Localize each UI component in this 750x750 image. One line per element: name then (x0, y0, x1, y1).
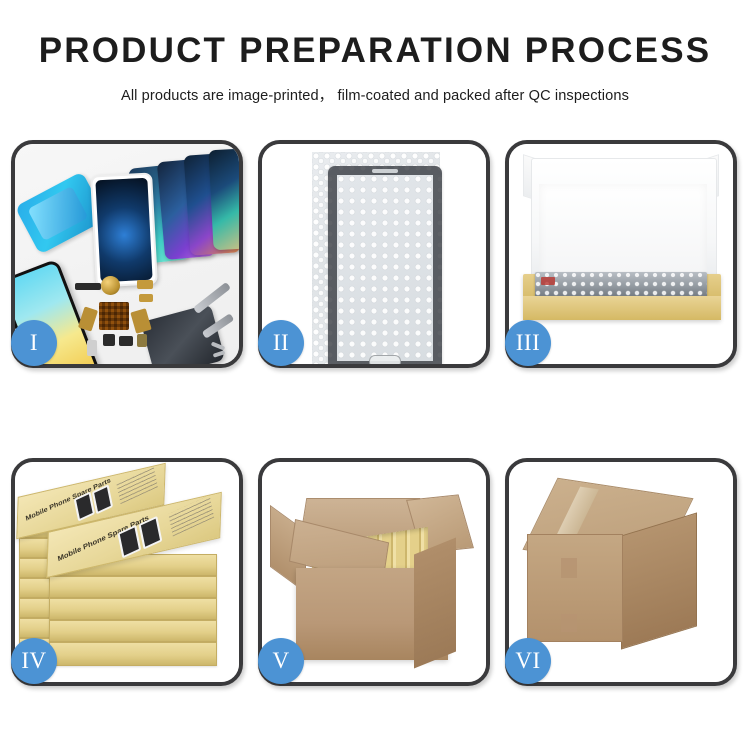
wireless-coil-part-icon (101, 276, 120, 295)
screwdriver-tool-icon (193, 282, 231, 314)
wrapped-phone-screen (328, 166, 442, 364)
process-step-card-1: I (11, 140, 243, 368)
phone-front-display-icon (90, 172, 158, 287)
step-numeral-badge: III (505, 320, 551, 366)
small-part-icon (137, 280, 153, 289)
small-part-icon (103, 334, 115, 346)
stacked-box (49, 598, 217, 620)
step-numeral-badge: V (258, 638, 304, 684)
sealed-carton-side (621, 512, 697, 649)
step-numeral-badge: VI (505, 638, 551, 684)
step-numeral-badge: I (11, 320, 57, 366)
process-step-card-5: V (258, 458, 490, 686)
tape-tab (561, 614, 577, 632)
small-part-icon (87, 340, 97, 356)
carton-side-panel (414, 538, 456, 669)
small-part-icon (137, 334, 147, 347)
product-preparation-infographic: PRODUCT PREPARATION PROCESS All products… (0, 0, 750, 750)
stacked-box (49, 620, 217, 642)
process-step-card-3: III (505, 140, 737, 368)
connector-grid-part-icon (99, 302, 129, 330)
earpiece-slot-icon (372, 169, 398, 173)
header: PRODUCT PREPARATION PROCESS All products… (0, 0, 750, 105)
phone-device-icon (208, 148, 239, 250)
page-title: PRODUCT PREPARATION PROCESS (0, 32, 750, 71)
process-step-card-6: VI (505, 458, 737, 686)
flex-cable-part-icon (130, 308, 151, 334)
step-numeral-badge: IV (11, 638, 57, 684)
stacked-box (49, 642, 217, 666)
home-button-icon (369, 355, 401, 364)
box-label-spec-lines (168, 495, 214, 536)
small-part-icon (75, 283, 101, 290)
process-step-card-4: Mobile Phone Spare Parts Mobile Phone Sp… (11, 458, 243, 686)
packed-wrapped-screen (535, 272, 707, 298)
small-part-icon (119, 336, 133, 346)
tape-tab (561, 558, 577, 578)
process-step-card-2: II (258, 140, 490, 368)
stacked-box (49, 576, 217, 598)
process-steps-grid: I II III (11, 140, 739, 686)
flex-cable-part-icon (78, 306, 98, 331)
kraft-box-front-panel (523, 296, 721, 320)
small-part-icon (139, 294, 153, 302)
page-subtitle: All products are image-printed， film-coa… (0, 84, 750, 105)
foam-lining (539, 184, 707, 280)
step-numeral-badge: II (258, 320, 304, 366)
box-label-spec-lines (116, 467, 158, 505)
